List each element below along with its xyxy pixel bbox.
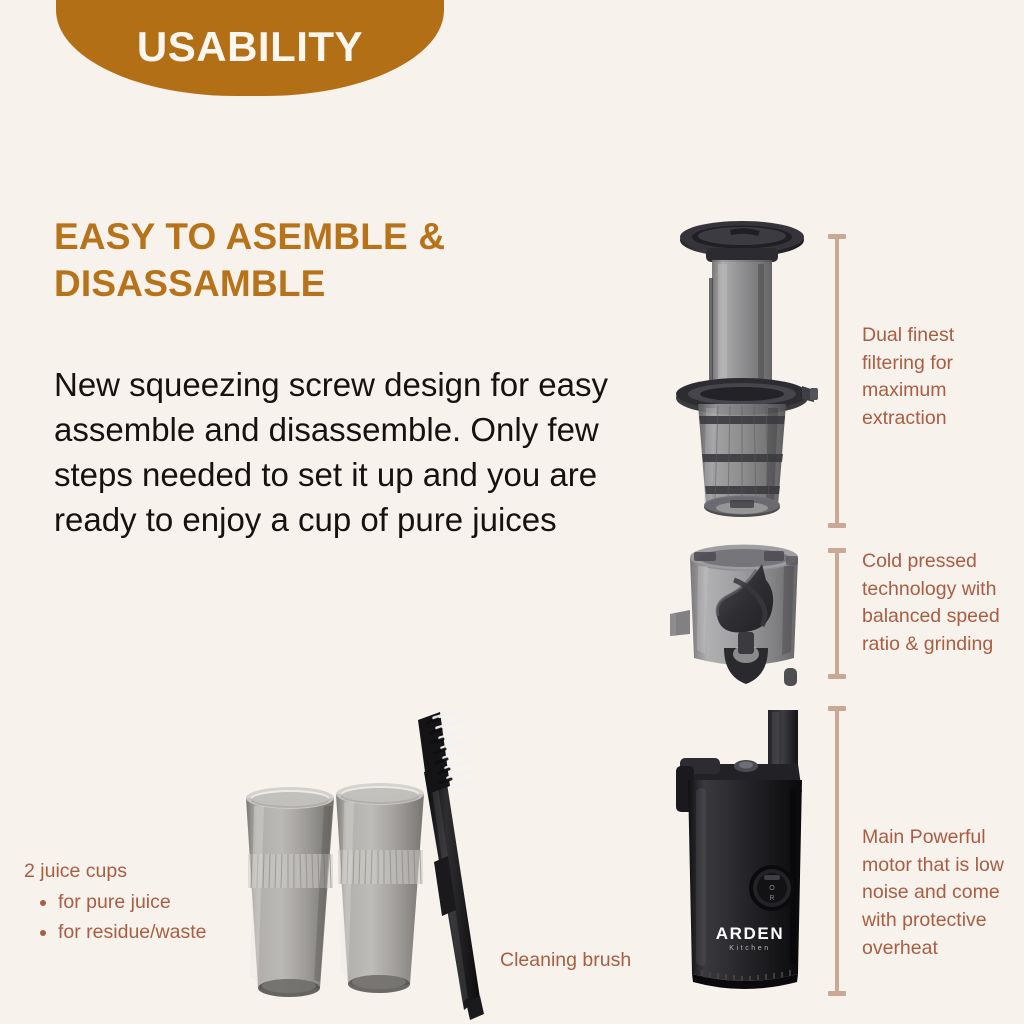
bracket-stem [835,706,839,996]
callout-filter: Dual finest filtering for maximum extrac… [862,322,1012,433]
bracket-cap-bottom [828,674,846,679]
usability-banner: USABILITY [56,0,444,96]
bracket-cap-bottom [828,991,846,996]
svg-text:R: R [769,895,774,902]
cups-and-brush-image [228,702,490,1022]
infographic-page: USABILITY EASY TO ASEMBLE & DISASSAMBLE … [0,0,1024,1024]
juicing-bowl-image [668,536,826,688]
juice-cups-list: for pure juice for residue/waste [24,889,244,947]
juice-cups-annotation: 2 juice cups for pure juice for residue/… [24,858,244,950]
juice-cups-title: 2 juice cups [24,858,244,886]
bracket-bowl [828,548,846,679]
bracket-motor [828,706,846,996]
svg-text:O: O [769,885,775,892]
page-title: EASY TO ASEMBLE & DISASSAMBLE [54,213,574,308]
brush-shape [418,711,484,1020]
callout-motor: Main Powerful motor that is low noise an… [862,824,1012,962]
filter-assembly-image [662,218,826,530]
cleaning-brush-label: Cleaning brush [500,949,631,972]
banner-label: USABILITY [137,11,363,71]
motor-base-image: O R [672,708,828,998]
bracket-stem [835,234,839,528]
bracket-filter [828,234,846,528]
callout-bowl: Cold pressed technology with balanced sp… [862,548,1012,659]
list-item: for pure juice [58,889,244,917]
bracket-stem [835,548,839,679]
list-item: for residue/waste [58,919,244,947]
body-paragraph: New squeezing screw design for easy asse… [54,363,624,543]
bracket-cap-bottom [828,523,846,528]
